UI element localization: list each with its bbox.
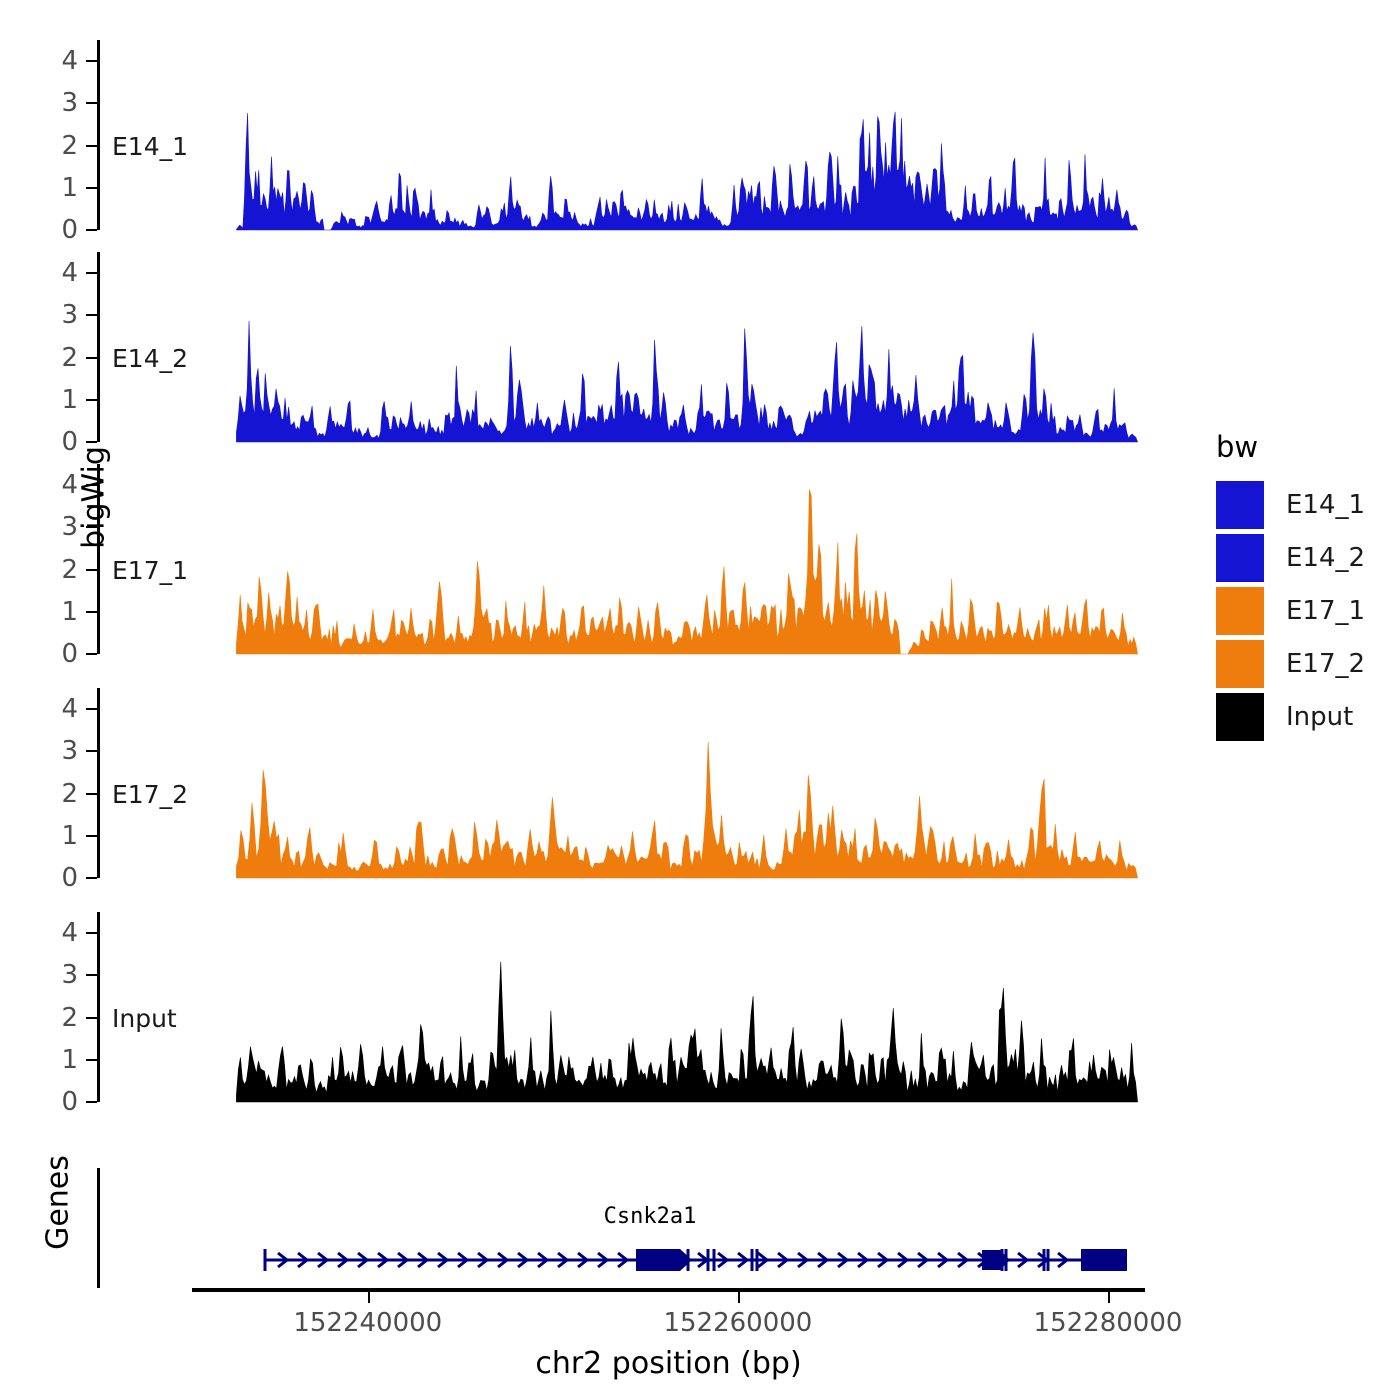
legend-label-e14_2: E14_2 [1286, 543, 1365, 573]
x-axis: 152240000152260000152280000 chr2 positio… [0, 1288, 1200, 1398]
legend-item-e14_1[interactable]: E14_1 [1206, 478, 1396, 531]
x-axis-title: chr2 position (bp) [192, 1346, 1145, 1381]
x-tick [368, 1292, 370, 1303]
gene-exon-tick [751, 1249, 754, 1271]
legend-item-e14_2[interactable]: E14_2 [1206, 531, 1396, 584]
legend-label-e17_1: E17_1 [1286, 596, 1365, 626]
gene-exon-tick [264, 1249, 267, 1271]
legend-item-e17_1[interactable]: E17_1 [1206, 584, 1396, 637]
legend-swatch-input [1216, 693, 1264, 741]
legend-label-input: Input [1286, 702, 1353, 732]
legend-swatch-e14_2 [1216, 534, 1264, 582]
gene-exon-tick [756, 1249, 759, 1271]
legend-item-e17_2[interactable]: E17_2 [1206, 637, 1396, 690]
legend-swatch-e14_1 [1216, 481, 1264, 529]
signal-area-input [236, 962, 1137, 1102]
legend-swatch-e17_1 [1216, 587, 1264, 635]
bigwig-genome-browser-figure: bigWig Genes 43210E14_143210E14_243210E1… [0, 0, 1400, 1400]
legend: bw E14_1E14_2E17_1E17_2Input [1206, 430, 1396, 743]
x-axis-line [192, 1288, 1145, 1292]
x-tick [1108, 1292, 1110, 1303]
gene-exon [1081, 1249, 1127, 1271]
gene-exon-tick [713, 1249, 716, 1271]
legend-items-container: E14_1E14_2E17_1E17_2Input [1206, 478, 1396, 743]
gene-model-group [264, 1249, 1128, 1271]
legend-label-e17_2: E17_2 [1286, 649, 1365, 679]
x-tick-label: 152280000 [1034, 1308, 1183, 1338]
x-tick-label: 152240000 [293, 1308, 442, 1338]
x-tick [738, 1292, 740, 1303]
legend-label-e14_1: E14_1 [1286, 490, 1365, 520]
gene-exon [636, 1249, 680, 1271]
legend-title: bw [1216, 430, 1396, 464]
x-tick-label: 152260000 [663, 1308, 812, 1338]
legend-swatch-e17_2 [1216, 640, 1264, 688]
legend-item-input[interactable]: Input [1206, 690, 1396, 743]
